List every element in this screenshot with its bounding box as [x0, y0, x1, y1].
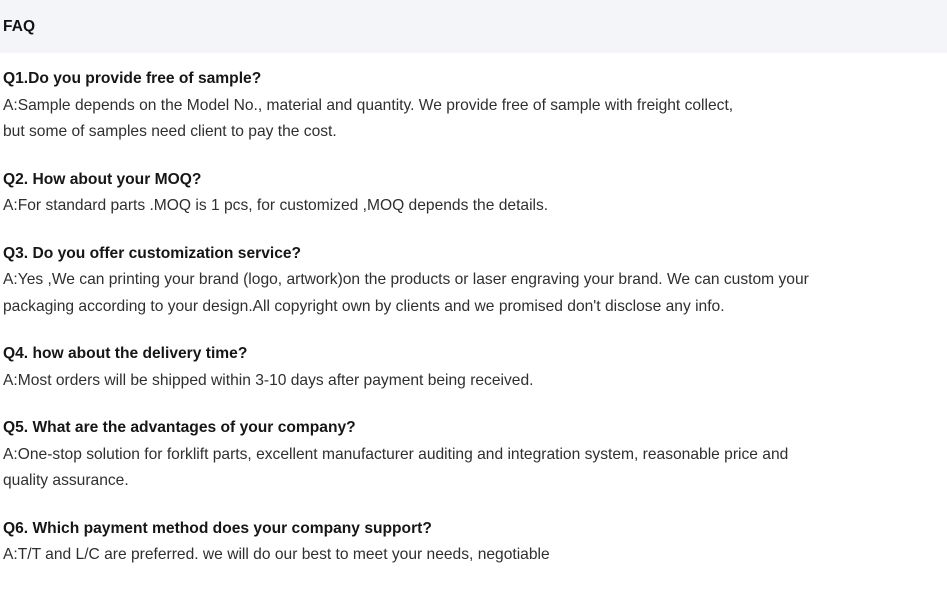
faq-item-6: Q6. Which payment method does your compa…: [3, 516, 947, 569]
faq-answer-line: A:Most orders will be shipped within 3-1…: [3, 368, 947, 395]
page-title: FAQ: [3, 19, 35, 35]
faq-answer-3: A:Yes ,We can printing your brand (logo,…: [3, 267, 947, 320]
faq-item-5: Q5. What are the advantages of your comp…: [3, 415, 947, 495]
faq-question-6: Q6. Which payment method does your compa…: [3, 516, 947, 543]
faq-answer-line: quality assurance.: [3, 468, 947, 495]
faq-answer-line: A:T/T and L/C are preferred. we will do …: [3, 542, 947, 569]
faq-answer-line: A:For standard parts .MOQ is 1 pcs, for …: [3, 193, 947, 220]
faq-answer-6: A:T/T and L/C are preferred. we will do …: [3, 542, 947, 569]
faq-answer-5: A:One-stop solution for forklift parts, …: [3, 442, 947, 495]
faq-answer-line: A:One-stop solution for forklift parts, …: [3, 442, 947, 469]
faq-answer-2: A:For standard parts .MOQ is 1 pcs, for …: [3, 193, 947, 220]
faq-answer-1: A:Sample depends on the Model No., mater…: [3, 93, 947, 146]
faq-answer-line: but some of samples need client to pay t…: [3, 119, 947, 146]
faq-item-2: Q2. How about your MOQ? A:For standard p…: [3, 167, 947, 220]
faq-answer-line: A:Yes ,We can printing your brand (logo,…: [3, 267, 947, 294]
faq-answer-line: A:Sample depends on the Model No., mater…: [3, 93, 947, 120]
faq-question-5: Q5. What are the advantages of your comp…: [3, 415, 947, 442]
faq-question-4: Q4. how about the delivery time?: [3, 341, 947, 368]
faq-header: FAQ: [0, 0, 947, 53]
faq-question-3: Q3. Do you offer customization service?: [3, 241, 947, 268]
faq-item-4: Q4. how about the delivery time? A:Most …: [3, 341, 947, 394]
faq-body: Q1.Do you provide free of sample? A:Samp…: [0, 66, 947, 569]
faq-answer-4: A:Most orders will be shipped within 3-1…: [3, 368, 947, 395]
faq-question-2: Q2. How about your MOQ?: [3, 167, 947, 194]
faq-item-3: Q3. Do you offer customization service? …: [3, 241, 947, 321]
faq-list: Q1.Do you provide free of sample? A:Samp…: [3, 66, 947, 569]
faq-answer-line: packaging according to your design.All c…: [3, 294, 947, 321]
faq-item-1: Q1.Do you provide free of sample? A:Samp…: [3, 66, 947, 146]
faq-question-1: Q1.Do you provide free of sample?: [3, 66, 947, 93]
faq-page: FAQ Q1.Do you provide free of sample? A:…: [0, 0, 947, 592]
